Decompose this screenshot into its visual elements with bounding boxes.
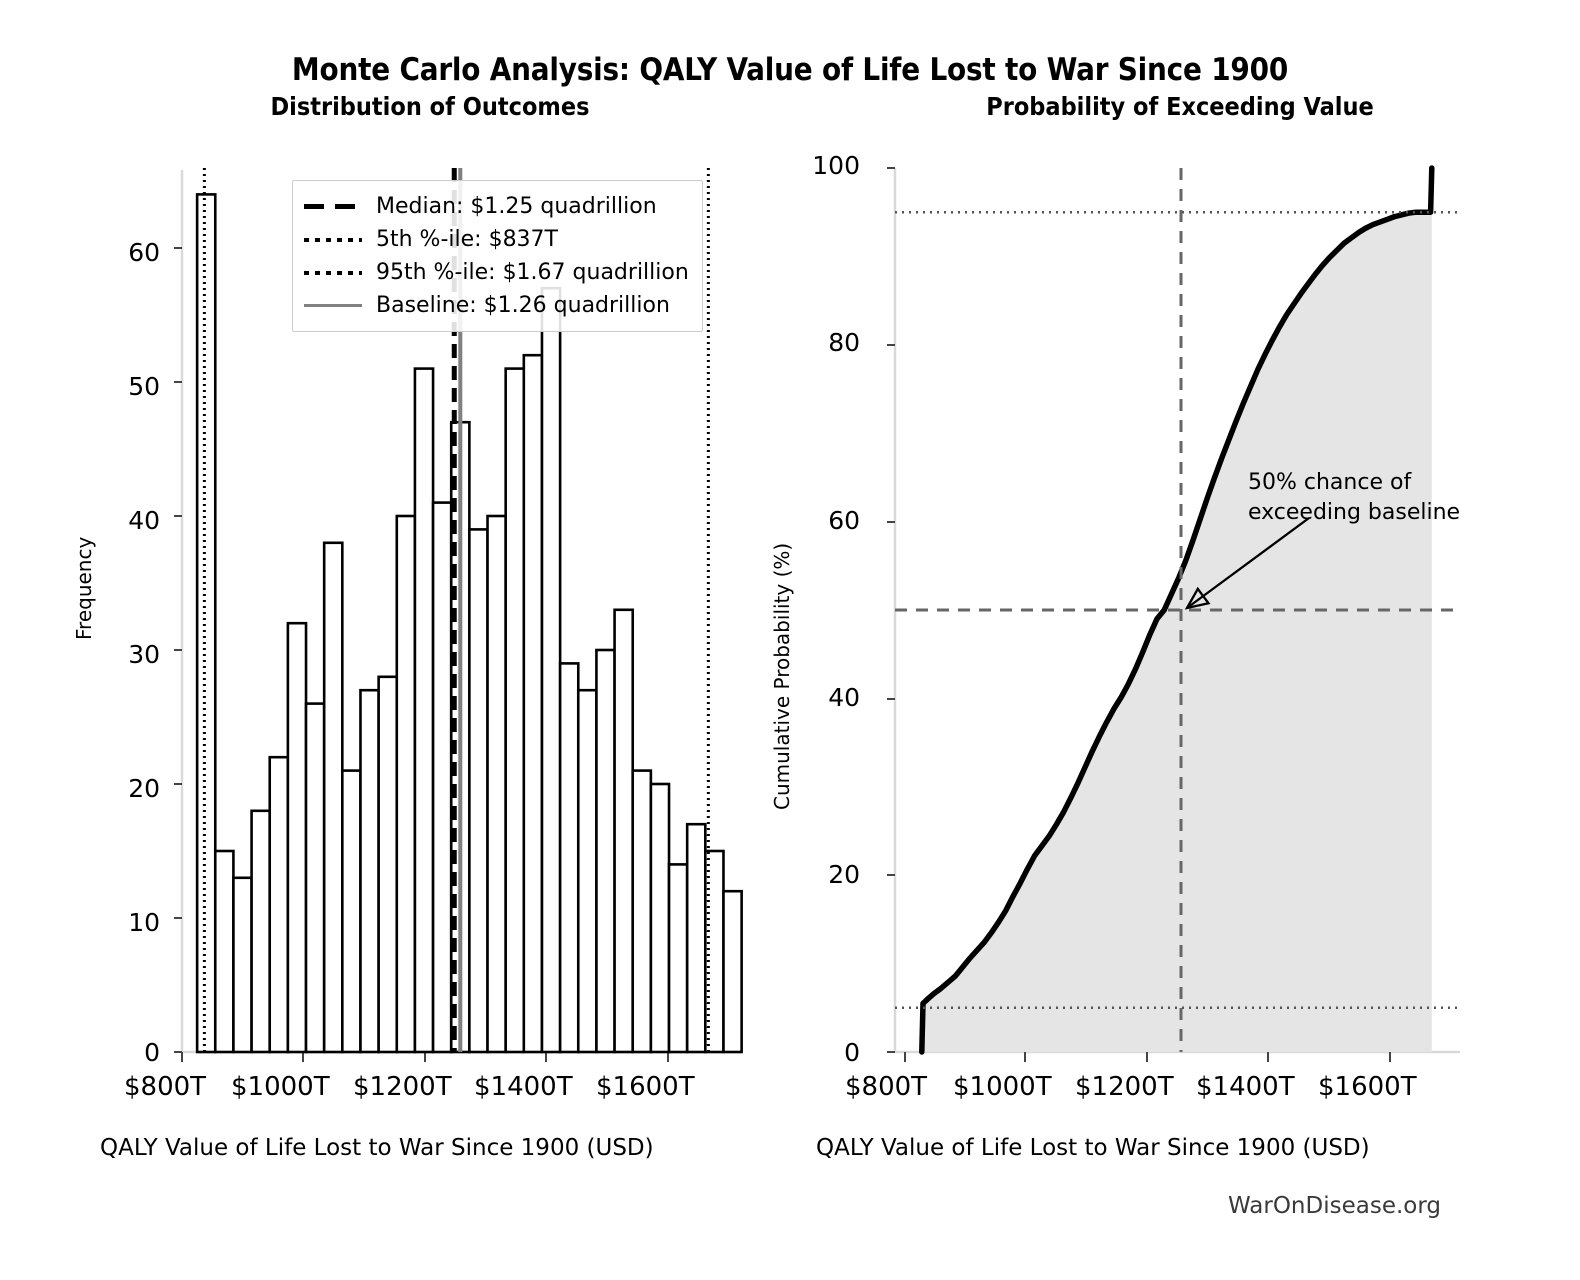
legend-label-p5: 5th %-ile: $837T: [376, 227, 558, 252]
histogram-bar: [397, 516, 415, 1052]
right-ytick-60: 60: [800, 506, 860, 535]
cdf-plot: [880, 160, 1480, 1065]
legend-item-median: Median: $1.25 quadrillion: [304, 190, 689, 223]
histogram-bar: [324, 543, 342, 1052]
solid-line-icon: [304, 297, 362, 315]
left-xtick-1200: $1200T: [353, 1072, 452, 1102]
right-xtick-1200: $1200T: [1075, 1072, 1174, 1102]
dotted-line-icon: [304, 264, 362, 282]
histogram-bar: [270, 757, 288, 1052]
left-xtick-800: $800T: [124, 1072, 206, 1102]
left-xaxis-title: QALY Value of Life Lost to War Since 190…: [100, 1135, 654, 1161]
histogram-bar: [596, 650, 614, 1052]
right-panel-title: Probability of Exceeding Value: [830, 92, 1530, 121]
right-yaxis-title: Cumulative Probability (%): [770, 543, 794, 810]
legend-label-median: Median: $1.25 quadrillion: [376, 194, 657, 219]
left-xtick-1400: $1400T: [474, 1072, 573, 1102]
histogram-bar: [488, 516, 506, 1052]
chart-figure: Monte Carlo Analysis: QALY Value of Life…: [0, 0, 1580, 1280]
histogram-bar: [669, 864, 687, 1052]
histogram-bar: [469, 529, 487, 1052]
right-xaxis-title: QALY Value of Life Lost to War Since 190…: [816, 1135, 1370, 1161]
histogram-bar: [723, 891, 741, 1052]
left-ytick-60: 60: [100, 238, 160, 267]
histogram-bar: [215, 851, 233, 1052]
left-ytick-50: 50: [100, 372, 160, 401]
right-xtick-800: $800T: [845, 1072, 927, 1102]
histogram-bar: [197, 194, 215, 1052]
histogram-bar: [633, 771, 651, 1052]
right-xtick-1400: $1400T: [1196, 1072, 1295, 1102]
histogram-bar: [615, 610, 633, 1052]
histogram-bar: [560, 663, 578, 1052]
histogram-bar: [578, 690, 596, 1052]
histogram-bar: [342, 771, 360, 1052]
histogram-bar: [252, 811, 270, 1052]
left-xtick-1600: $1600T: [596, 1072, 695, 1102]
left-xtick-1000: $1000T: [231, 1072, 330, 1102]
histogram-bar: [651, 784, 669, 1052]
legend-item-p5: 5th %-ile: $837T: [304, 223, 689, 256]
histogram-bar: [288, 623, 306, 1052]
cdf-annotation-line2: exceeding baseline: [1248, 500, 1460, 527]
histogram-bar: [360, 690, 378, 1052]
left-ytick-30: 30: [100, 640, 160, 669]
legend-item-baseline: Baseline: $1.26 quadrillion: [304, 289, 689, 322]
left-ytick-40: 40: [100, 506, 160, 535]
dotted-line-icon: [304, 231, 362, 249]
legend-item-p95: 95th %-ile: $1.67 quadrillion: [304, 256, 689, 289]
cdf-annotation-line1: 50% chance of: [1248, 470, 1411, 497]
histogram-bar: [233, 878, 251, 1052]
dashed-line-icon: [304, 198, 362, 216]
left-ytick-20: 20: [100, 774, 160, 803]
left-ytick-0: 0: [110, 1038, 160, 1067]
histogram-legend: Median: $1.25 quadrillion 5th %-ile: $83…: [292, 180, 703, 332]
histogram-bar: [306, 704, 324, 1052]
histogram-bar: [687, 824, 705, 1052]
right-ytick-80: 80: [800, 328, 860, 357]
histogram-bar: [415, 369, 433, 1052]
right-ytick-100: 100: [790, 151, 860, 180]
legend-label-p95: 95th %-ile: $1.67 quadrillion: [376, 260, 689, 285]
histogram-bar: [524, 355, 542, 1052]
left-yaxis-title: Frequency: [72, 537, 96, 640]
right-ytick-40: 40: [800, 683, 860, 712]
source-watermark: WarOnDisease.org: [1228, 1193, 1441, 1219]
figure-suptitle: Monte Carlo Analysis: QALY Value of Life…: [0, 52, 1580, 88]
right-ytick-20: 20: [800, 860, 860, 889]
histogram-bar: [433, 503, 451, 1052]
left-panel-title: Distribution of Outcomes: [100, 92, 760, 121]
histogram-bar: [542, 288, 560, 1052]
left-ytick-10: 10: [100, 908, 160, 937]
right-xtick-1600: $1600T: [1318, 1072, 1417, 1102]
right-ytick-0: 0: [800, 1038, 860, 1067]
legend-label-baseline: Baseline: $1.26 quadrillion: [376, 293, 670, 318]
right-xtick-1000: $1000T: [953, 1072, 1052, 1102]
histogram-bar: [379, 677, 397, 1052]
histogram-bar: [506, 369, 524, 1052]
